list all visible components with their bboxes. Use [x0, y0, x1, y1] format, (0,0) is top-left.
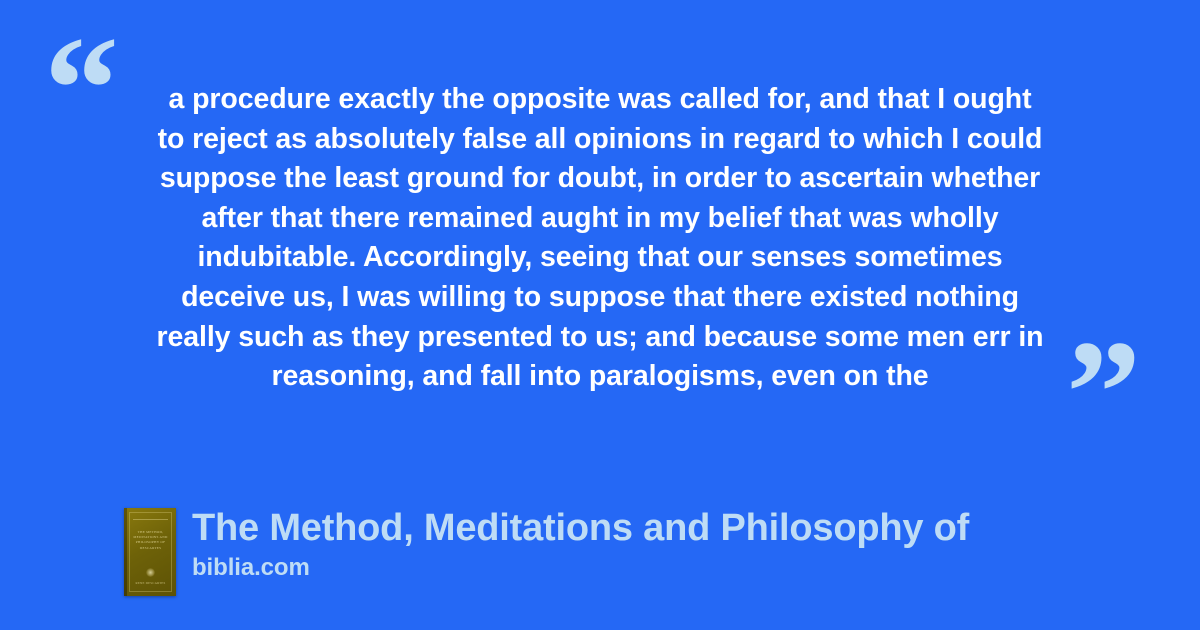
book-cover-thumbnail[interactable]: The Method, Meditations and Philosophy o… — [124, 508, 176, 596]
book-cover-frame — [129, 512, 172, 592]
quote-text-block: a procedure exactly the opposite was cal… — [100, 80, 1100, 397]
quote-line: indubitable. Accordingly, seeing that ou… — [100, 238, 1100, 278]
book-cover-title: The Method, Meditations and Philosophy o… — [132, 530, 169, 551]
quote-line: after that there remained aught in my be… — [100, 199, 1100, 239]
book-title: The Method, Meditations and Philosophy o… — [192, 505, 969, 551]
quote-line: really such as they presented to us; and… — [100, 318, 1100, 358]
quote-line: deceive us, I was willing to suppose tha… — [100, 278, 1100, 318]
book-cover-author: Rene Descartes — [131, 581, 170, 585]
book-spine — [124, 508, 127, 596]
attribution-text: The Method, Meditations and Philosophy o… — [192, 505, 969, 582]
book-cover-rule — [133, 519, 168, 520]
quote-line: a procedure exactly the opposite was cal… — [100, 80, 1100, 120]
quote-line: to reject as absolutely false all opinio… — [100, 120, 1100, 160]
quote-line: suppose the least ground for doubt, in o… — [100, 159, 1100, 199]
quote-line: reasoning, and fall into paralogisms, ev… — [100, 357, 1100, 397]
quote-card: “ ” a procedure exactly the opposite was… — [0, 0, 1200, 630]
site-name[interactable]: biblia.com — [192, 554, 969, 582]
attribution-footer: The Method, Meditations and Philosophy o… — [124, 505, 969, 596]
book-cover-emblem-icon — [146, 568, 155, 577]
